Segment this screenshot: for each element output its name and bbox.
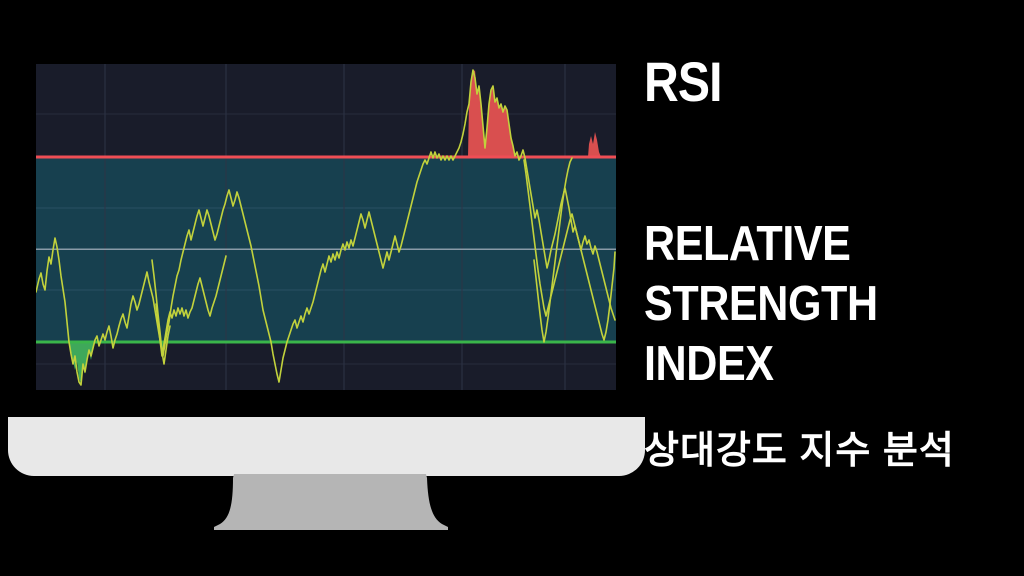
text-panel: RSI RELATIVE STRENGTH INDEX 상대강도 지수 분석 — [640, 0, 1024, 576]
korean-subtitle: 상대강도 지수 분석 — [644, 428, 955, 474]
poster-root: RSI RELATIVE STRENGTH INDEX 상대강도 지수 분석 — [0, 0, 1024, 576]
headline-line-2: STRENGTH — [644, 274, 978, 334]
rsi-chart — [36, 64, 616, 390]
monitor-body — [8, 417, 645, 476]
headline-line-1: RELATIVE — [644, 214, 978, 274]
monitor-stand — [180, 474, 480, 542]
page-title: RSI — [644, 54, 722, 110]
monitor-illustration — [0, 0, 660, 576]
monitor-screen — [36, 64, 616, 390]
headline-line-3: INDEX — [644, 334, 978, 394]
headline-lines: RELATIVE STRENGTH INDEX — [644, 214, 1024, 394]
